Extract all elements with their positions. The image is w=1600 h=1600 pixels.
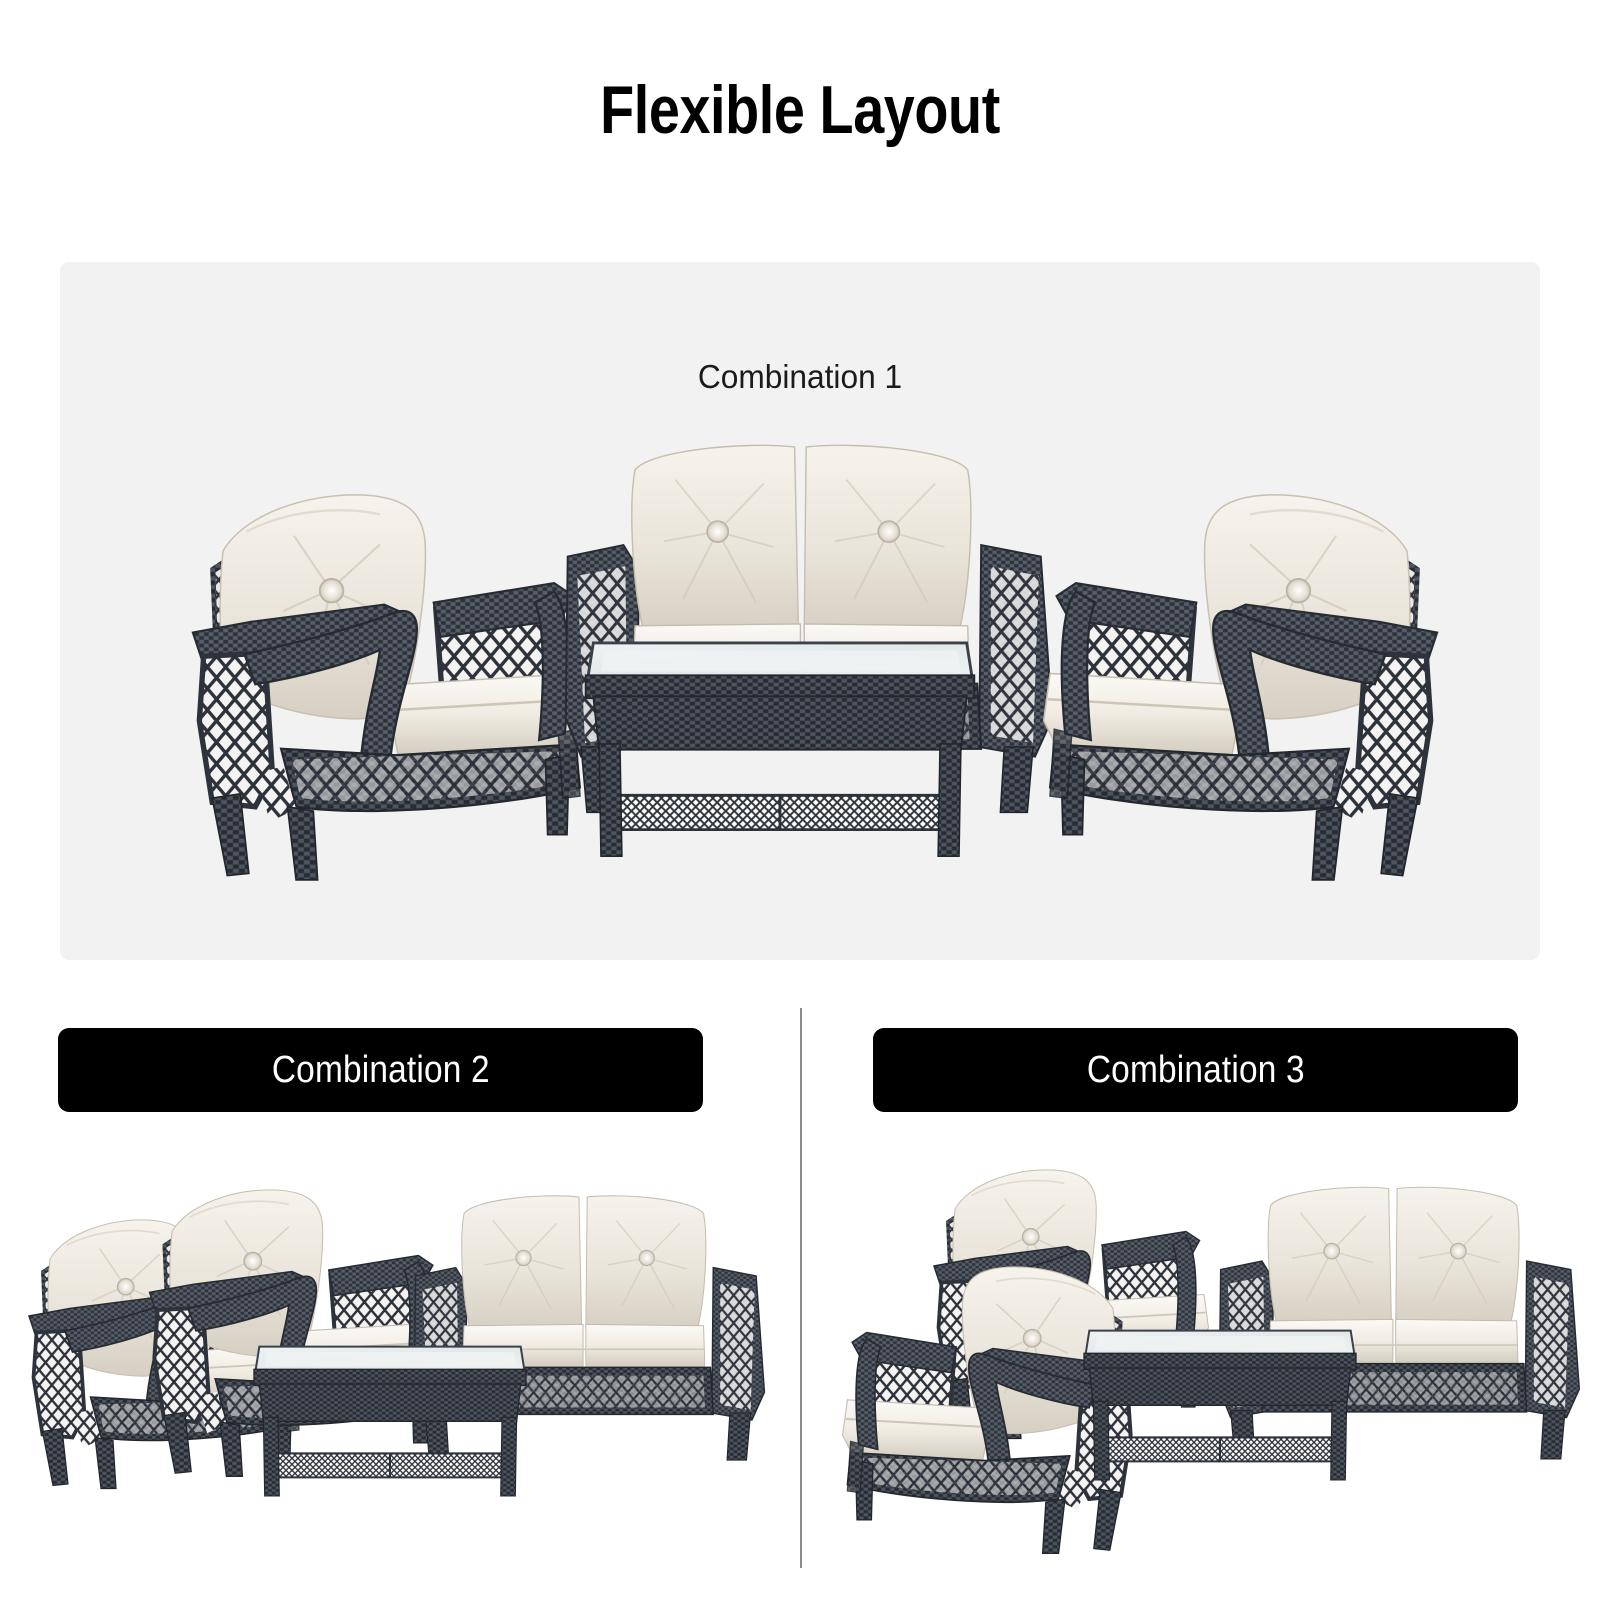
combination-1-panel: Combination 1	[60, 262, 1540, 960]
loveseat	[1219, 1187, 1579, 1459]
armchair-2	[843, 1267, 1136, 1554]
armchair-left	[193, 495, 586, 880]
combination-3-illustration	[815, 1120, 1595, 1590]
combination-1-illustration	[60, 422, 1540, 962]
section-divider	[800, 1008, 802, 1568]
combination-3-label: Combination 3	[1087, 1049, 1305, 1092]
combination-2-illustration	[10, 1130, 790, 1590]
page-title: Flexible Layout	[144, 76, 1456, 144]
coffee-table-center	[586, 643, 975, 856]
combination-3-banner: Combination 3	[873, 1028, 1518, 1112]
combination-3-furniture-stage	[815, 1120, 1595, 1590]
combination-2-furniture-stage	[10, 1130, 790, 1590]
combination-1-furniture-stage	[60, 422, 1540, 962]
coffee-table	[1084, 1331, 1356, 1480]
armchair-right	[1044, 495, 1437, 880]
infographic-page: Flexible Layout Combination 1	[0, 0, 1600, 1600]
coffee-table	[254, 1347, 526, 1496]
combination-2-label: Combination 2	[272, 1049, 490, 1092]
combination-1-caption: Combination 1	[90, 358, 1511, 396]
loveseat-center	[566, 445, 1053, 812]
combination-2-banner: Combination 2	[58, 1028, 703, 1112]
